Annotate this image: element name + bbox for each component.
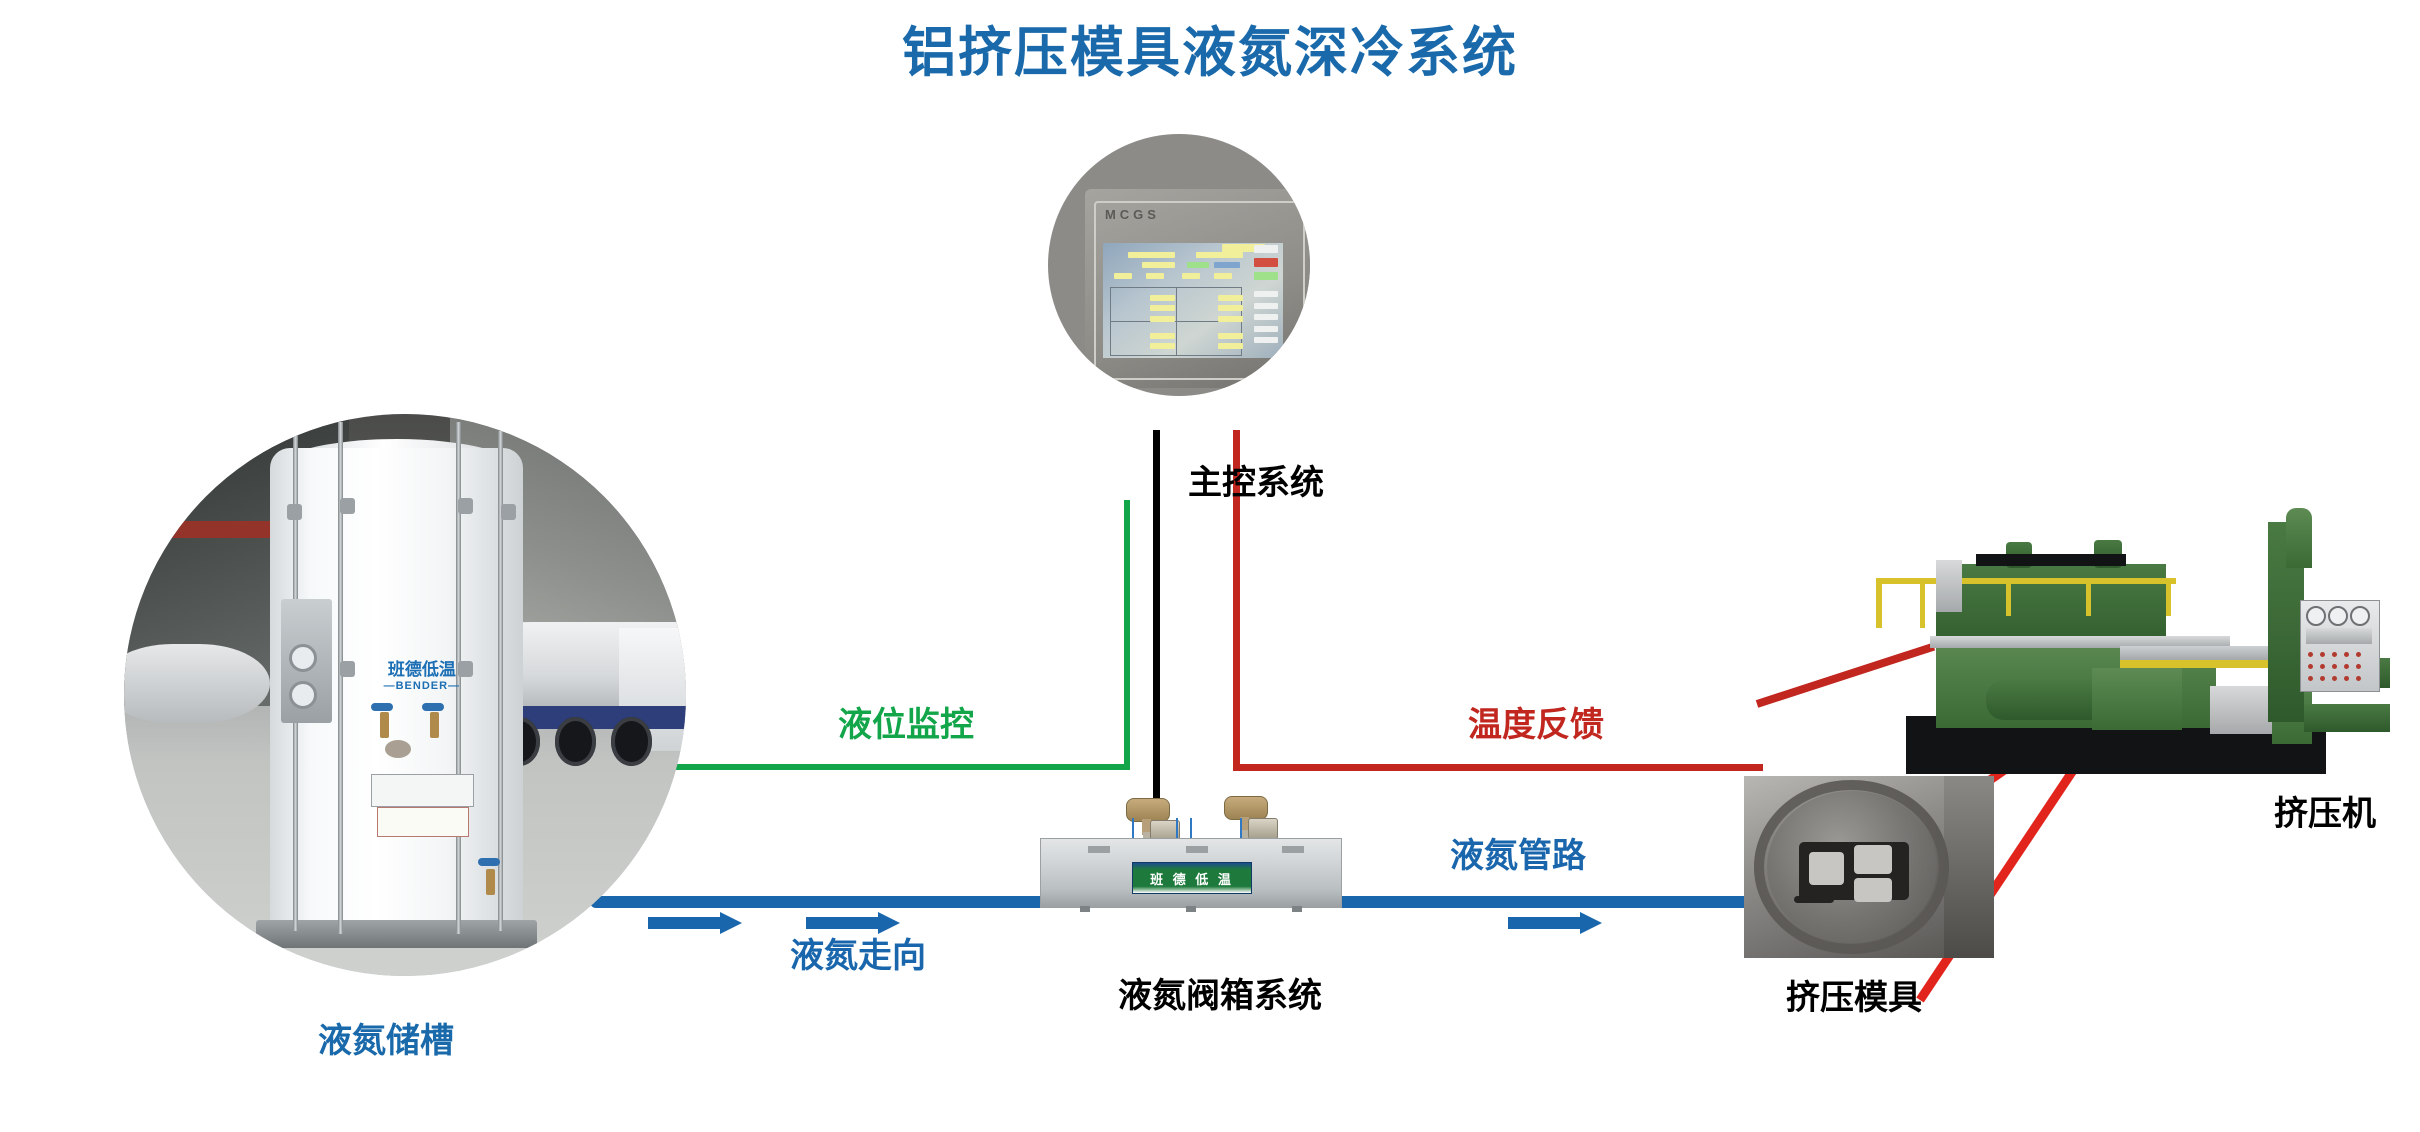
tank-brand: 班德低温 —BENDER— [338,661,507,692]
control-link-line [1153,430,1160,848]
label-control-system: 主控系统 [1188,455,1324,504]
ln2-pipeline-right-segment [1332,896,1752,908]
storage-tank-photo: 班德低温 —BENDER— [124,414,686,976]
diagram-canvas: 铝挤压模具液氮深冷系统 [0,0,2420,1132]
label-extrusion-die: 挤压模具 [1786,970,1922,1019]
valve-box-flange-3 [1282,846,1304,853]
label-storage-tank: 液氮储槽 [318,1013,454,1062]
page-title: 铝挤压模具液氮深冷系统 [0,8,2420,87]
label-ln2-direction: 液氮走向 [790,928,926,977]
label-temperature-feedback: 温度反馈 [1468,697,1604,746]
hmi-brand-label: MCGS [1105,207,1160,222]
tank-brand-cn: 班德低温 [388,660,456,679]
valve-box-flange-1 [1088,846,1110,853]
extrusion-press-photo [1876,508,2416,800]
valve-box-flange-2 [1186,846,1208,853]
temperature-feedback-line-horizontal [1233,764,1763,771]
flow-arrow-3 [1508,912,1602,934]
tank-brand-en: —BENDER— [338,681,507,693]
extrusion-die-photo [1744,776,1994,958]
valve-box-nameplate: 班 德 低 温 [1132,862,1252,894]
label-level-monitor: 液位监控 [838,697,974,746]
label-valve-box: 液氮阀箱系统 [1118,968,1322,1017]
label-extrusion-press: 挤压机 [2274,786,2376,835]
label-ln2-pipeline: 液氮管路 [1450,828,1586,877]
valve-box-nameplate-text: 班 德 低 温 [1150,869,1234,888]
hmi-screen [1103,243,1283,358]
control-system-photo: MCGS [1048,134,1310,396]
level-monitor-line-vertical [1124,500,1130,770]
